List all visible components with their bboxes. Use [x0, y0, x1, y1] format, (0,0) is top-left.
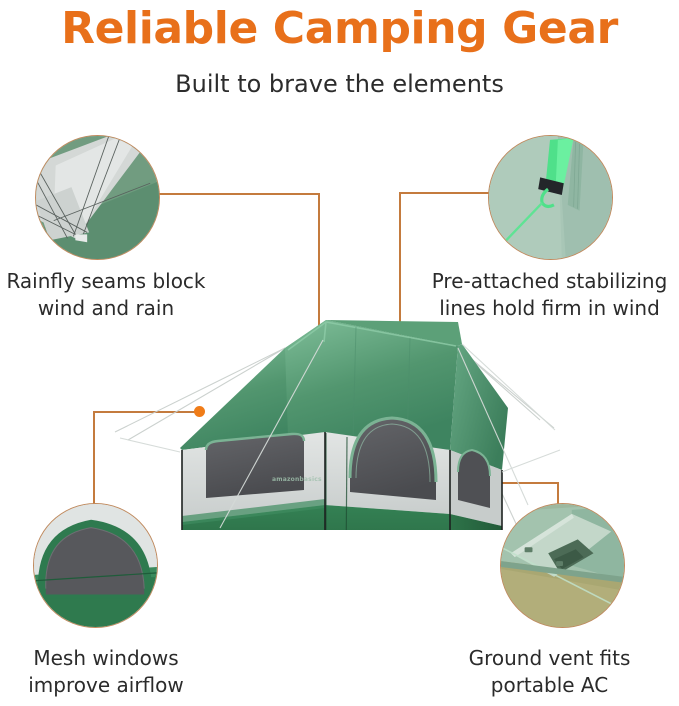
brand-mark: amazonbasics: [272, 476, 322, 483]
callout-caption-mesh-windows: Mesh windows improve airflow: [0, 645, 212, 699]
infographic-canvas: Reliable Camping Gear Built to brave the…: [0, 0, 679, 706]
callout-image-mesh-windows: [33, 503, 158, 628]
product-image-tent: [110, 300, 570, 530]
callout-image-rainfly-seams: [35, 135, 160, 260]
connector-line-top-left-h: [158, 193, 319, 195]
connector-line-top-right-h: [399, 192, 491, 194]
callout-caption-rainfly-seams: Rainfly seams block wind and rain: [0, 268, 212, 322]
connector-line-bottom-left-v: [93, 411, 95, 511]
page-subtitle: Built to brave the elements: [0, 68, 679, 100]
callout-caption-ground-vent: Ground vent fits portable AC: [420, 645, 679, 699]
callout-image-ground-vent: [500, 503, 625, 628]
callout-caption-stabilizing-lines: Pre-attached stabilizing lines hold firm…: [420, 268, 679, 322]
page-title: Reliable Camping Gear: [0, 2, 679, 56]
callout-image-stabilizing-lines: [488, 135, 613, 260]
